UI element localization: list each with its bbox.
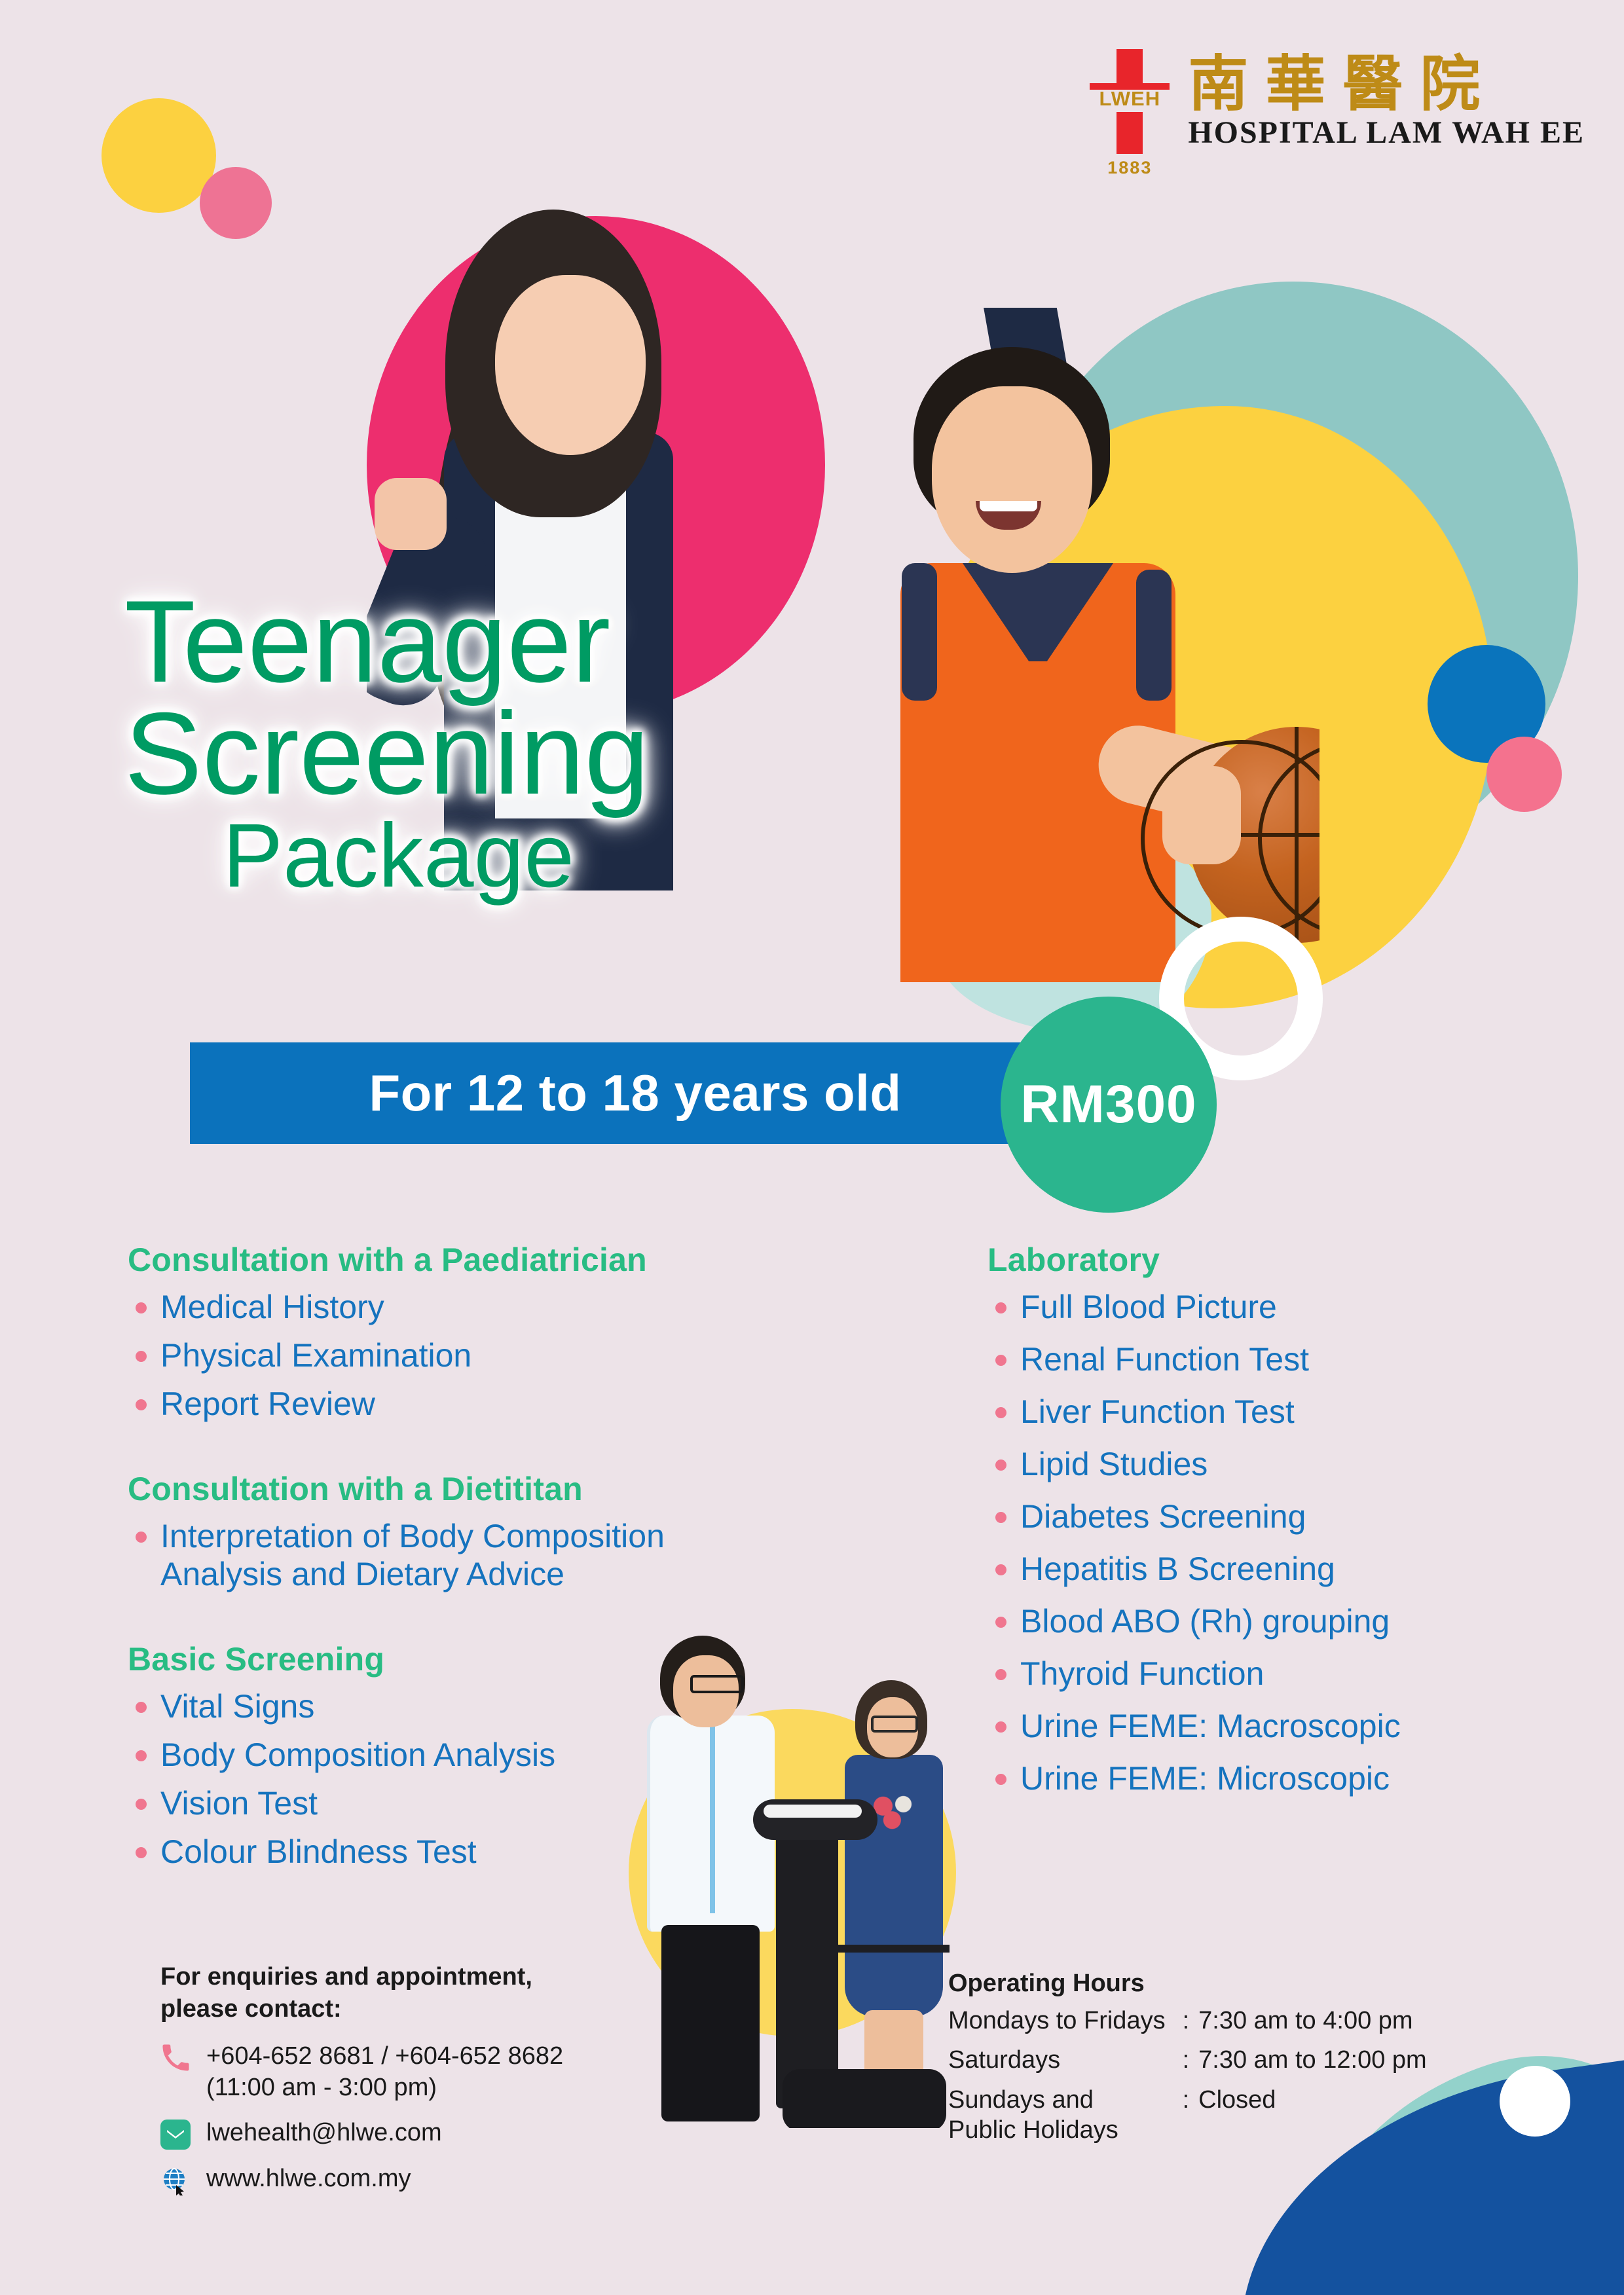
list-laboratory: Full Blood Picture Renal Function Test L… <box>987 1288 1590 1797</box>
phone-number: +604-652 8681 / +604-652 8682 (11:00 am … <box>206 2040 563 2104</box>
table-row: Saturdays : 7:30 am to 12:00 pm <box>948 2045 1427 2084</box>
hours-day: Mondays to Fridays <box>948 2006 1183 2045</box>
hours-separator: : <box>1183 2045 1199 2084</box>
email-address: lwehealth@hlwe.com <box>206 2117 442 2149</box>
price-text: RM300 <box>1020 1074 1196 1135</box>
operating-hours-table: Mondays to Fridays : 7:30 am to 4:00 pm … <box>948 2006 1427 2154</box>
operating-hours-heading: Operating Hours <box>948 1970 1427 1998</box>
table-row: Sundays and Public Holidays : Closed <box>948 2085 1427 2155</box>
list-item: Liver Function Test <box>987 1393 1590 1431</box>
contact-row-phone[interactable]: +604-652 8681 / +604-652 8682 (11:00 am … <box>160 2040 750 2104</box>
logo-english-name: HOSPITAL LAM WAH EE <box>1188 117 1585 149</box>
list-item: Medical History <box>128 1288 900 1326</box>
list-item: Hepatitis B Screening <box>987 1550 1590 1588</box>
list-item: Urine FEME: Microscopic <box>987 1759 1590 1797</box>
list-item: Full Blood Picture <box>987 1288 1590 1326</box>
list-item: Lipid Studies <box>987 1445 1590 1483</box>
services-column-left: Consultation with a Paediatrician Medica… <box>128 1241 900 1881</box>
age-range-banner: For 12 to 18 years old <box>190 1042 1080 1144</box>
list-paediatrician: Medical History Physical Examination Rep… <box>128 1288 900 1423</box>
decor-pink-circle-right <box>1486 737 1562 812</box>
list-item: Colour Blindness Test <box>128 1833 900 1871</box>
list-item: Interpretation of Body Composition Analy… <box>128 1517 750 1593</box>
list-item: Renal Function Test <box>987 1340 1590 1378</box>
envelope-icon <box>160 2120 191 2150</box>
hours-time: 7:30 am to 4:00 pm <box>1198 2006 1427 2045</box>
contact-row-website[interactable]: www.hlwe.com.my <box>160 2163 750 2195</box>
list-item: Report Review <box>128 1385 900 1423</box>
operating-hours-block: Operating Hours Mondays to Fridays : 7:3… <box>948 1970 1427 2154</box>
phone-icon <box>160 2043 191 2073</box>
logo-year: 1883 <box>1090 158 1170 178</box>
section-heading-laboratory: Laboratory <box>987 1241 1590 1279</box>
price-badge: RM300 <box>1001 997 1217 1213</box>
list-dietitian: Interpretation of Body Composition Analy… <box>128 1517 900 1593</box>
hours-day: Sundays and Public Holidays <box>948 2085 1183 2155</box>
title-line-3: Package <box>223 813 650 899</box>
section-heading-dietitian: Consultation with a Dietititan <box>128 1470 900 1508</box>
list-item: Urine FEME: Macroscopic <box>987 1707 1590 1745</box>
list-item: Vital Signs <box>128 1687 900 1725</box>
services-column-right: Laboratory Full Blood Picture Renal Func… <box>987 1241 1590 1812</box>
age-range-text: For 12 to 18 years old <box>369 1063 902 1123</box>
hours-time: Closed <box>1198 2085 1427 2155</box>
list-item: Blood ABO (Rh) grouping <box>987 1602 1590 1640</box>
list-item: Thyroid Function <box>987 1655 1590 1693</box>
decor-pink-circle-top-left <box>200 167 272 239</box>
list-item: Physical Examination <box>128 1336 900 1374</box>
title-line-1: Teenager <box>124 586 650 698</box>
red-cross-icon: LWEH 1883 <box>1090 49 1170 154</box>
list-item: Diabetes Screening <box>987 1497 1590 1535</box>
contact-row-email[interactable]: lwehealth@hlwe.com <box>160 2117 750 2150</box>
contact-block: For enquiries and appointment, please co… <box>160 1961 750 2209</box>
hours-day: Saturdays <box>948 2045 1183 2084</box>
decor-yellow-circle-top-left <box>101 98 216 213</box>
website-url: www.hlwe.com.my <box>206 2163 411 2195</box>
hours-separator: : <box>1183 2006 1199 2045</box>
logo-cross-label: LWEH <box>1090 87 1170 111</box>
hours-time: 7:30 am to 12:00 pm <box>1198 2045 1427 2084</box>
section-heading-basic-screening: Basic Screening <box>128 1640 900 1678</box>
table-row: Mondays to Fridays : 7:30 am to 4:00 pm <box>948 2006 1427 2045</box>
list-item: Body Composition Analysis <box>128 1736 900 1774</box>
list-item: Vision Test <box>128 1784 900 1822</box>
page-title: Teenager Screening Package <box>124 586 650 899</box>
title-line-2: Screening <box>124 698 650 810</box>
section-heading-paediatrician: Consultation with a Paediatrician <box>128 1241 900 1279</box>
globe-icon <box>160 2165 191 2195</box>
hospital-logo: LWEH 1883 南華醫院 HOSPITAL LAM WAH EE <box>1090 49 1585 154</box>
contact-heading: For enquiries and appointment, please co… <box>160 1961 750 2026</box>
hours-separator: : <box>1183 2085 1199 2155</box>
poster-root: LWEH 1883 南華醫院 HOSPITAL LAM WAH EE Teena… <box>0 0 1624 2295</box>
list-basic-screening: Vital Signs Body Composition Analysis Vi… <box>128 1687 900 1871</box>
logo-chinese-name: 南華醫院 <box>1188 54 1585 115</box>
decor-white-circle-bottom-right <box>1500 2066 1570 2137</box>
